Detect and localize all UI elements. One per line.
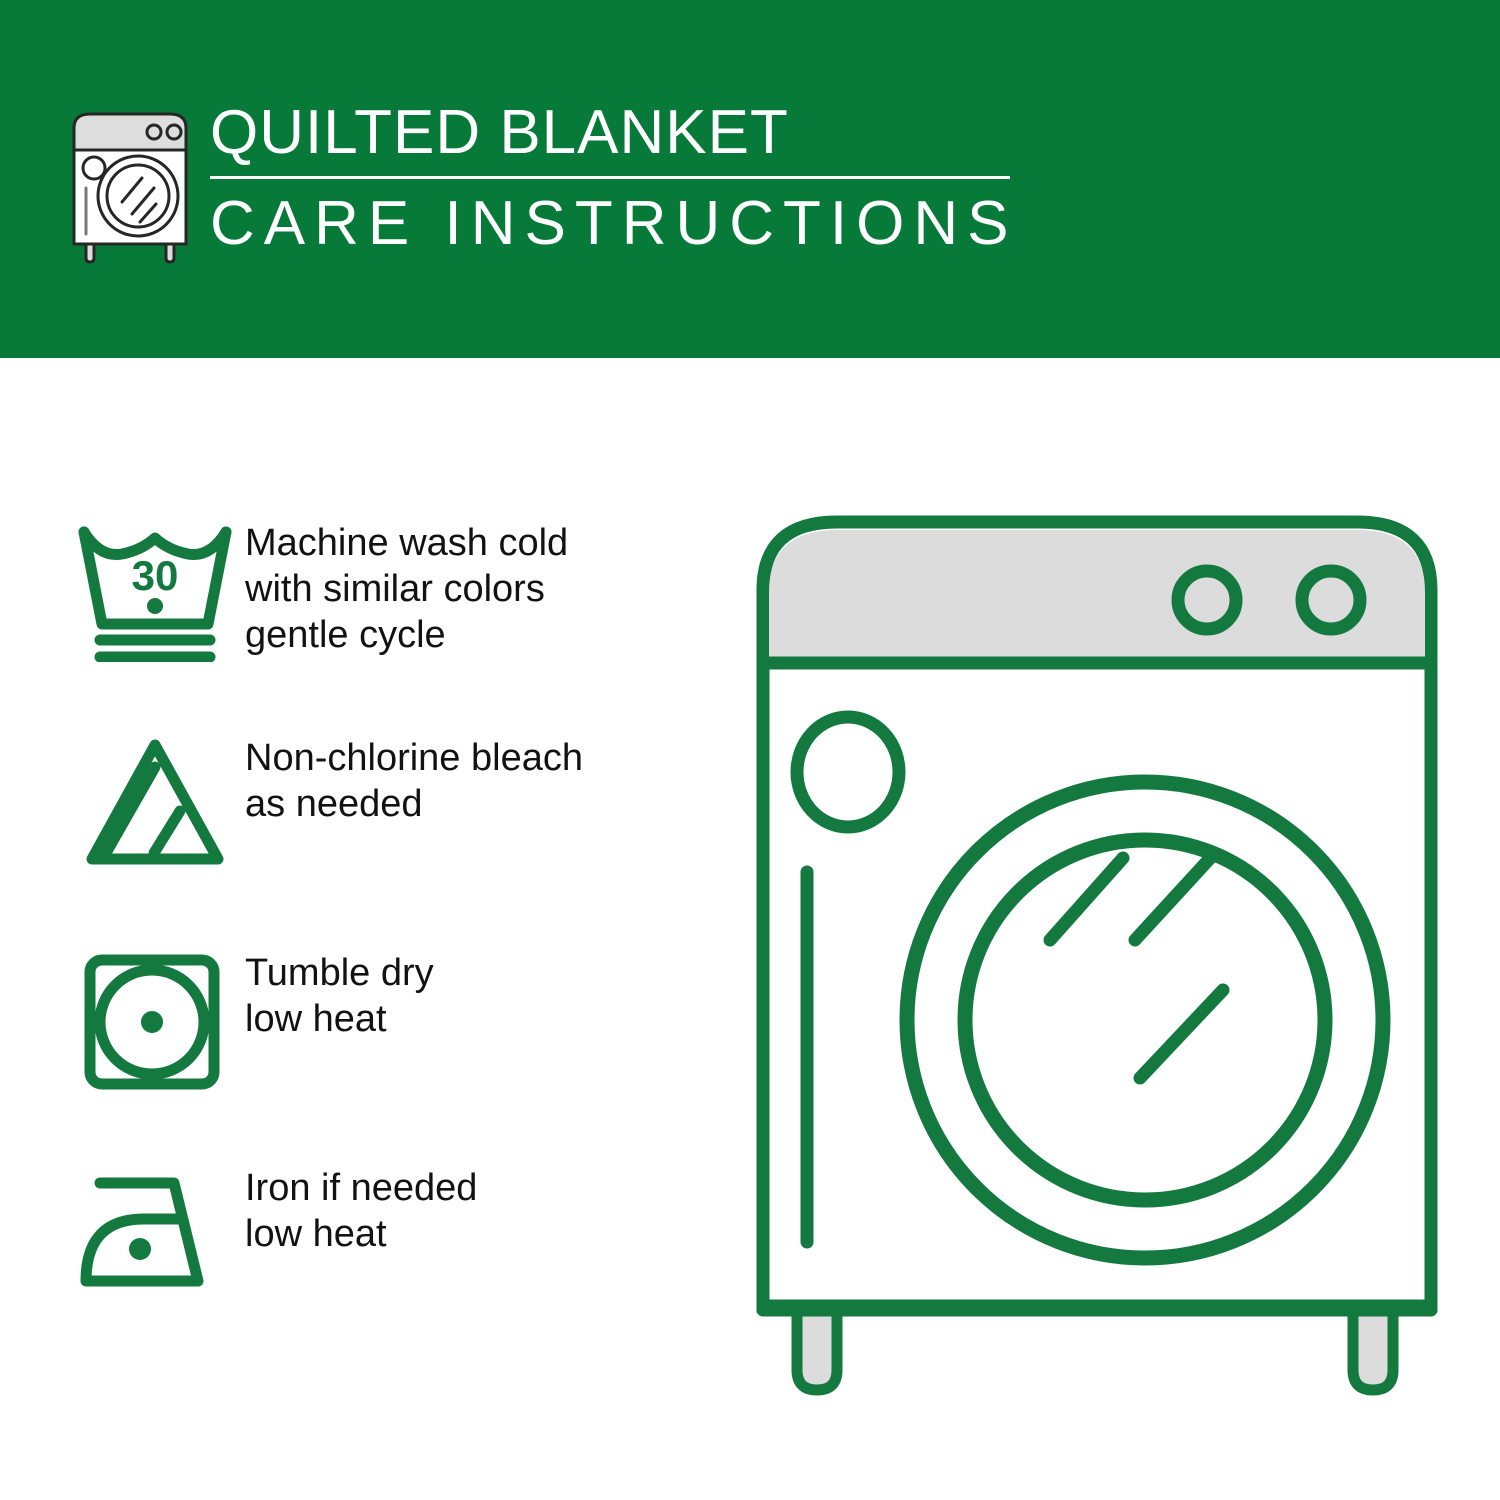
care-text-line: Non-chlorine bleach — [245, 735, 710, 781]
wash-temperature-value: 30 — [132, 552, 179, 599]
care-text-line: low heat — [245, 996, 710, 1042]
care-text-tumble-dry: Tumble dry low heat — [245, 930, 710, 1042]
care-instruction-list: 30 Machine wash cold with similar colors… — [70, 500, 710, 1360]
wash-tub-30-gentle-icon: 30 — [70, 500, 245, 662]
header-band: QUILTED BLANKET CARE INSTRUCTIONS — [0, 0, 1500, 358]
non-chlorine-bleach-triangle-icon — [70, 715, 245, 877]
washing-machine-icon — [66, 106, 194, 264]
page-title: QUILTED BLANKET — [210, 96, 1030, 170]
care-instructions-page: QUILTED BLANKET CARE INSTRUCTIONS 30 — [0, 0, 1500, 1500]
front-load-washing-machine-illustration — [745, 500, 1450, 1420]
page-subtitle: CARE INSTRUCTIONS — [210, 187, 1030, 261]
header-title-block: QUILTED BLANKET CARE INSTRUCTIONS — [210, 96, 1030, 261]
care-text-iron: Iron if needed low heat — [245, 1145, 710, 1257]
care-text-line: as needed — [245, 781, 710, 827]
care-text-line: Machine wash cold — [245, 520, 710, 566]
tumble-dry-low-icon — [70, 930, 245, 1092]
care-row-tumble-dry: Tumble dry low heat — [70, 930, 710, 1145]
care-text-line: gentle cycle — [245, 612, 710, 658]
care-text-line: low heat — [245, 1211, 710, 1257]
care-row-wash: 30 Machine wash cold with similar colors… — [70, 500, 710, 715]
care-text-line: with similar colors — [245, 566, 710, 612]
care-text-bleach: Non-chlorine bleach as needed — [245, 715, 710, 827]
care-text-line: Iron if needed — [245, 1165, 710, 1211]
care-row-iron: Iron if needed low heat — [70, 1145, 710, 1360]
iron-low-heat-icon — [70, 1145, 245, 1307]
title-divider — [210, 176, 1010, 179]
care-row-bleach: Non-chlorine bleach as needed — [70, 715, 710, 930]
care-text-line: Tumble dry — [245, 950, 710, 996]
care-text-wash: Machine wash cold with similar colors ge… — [245, 500, 710, 658]
